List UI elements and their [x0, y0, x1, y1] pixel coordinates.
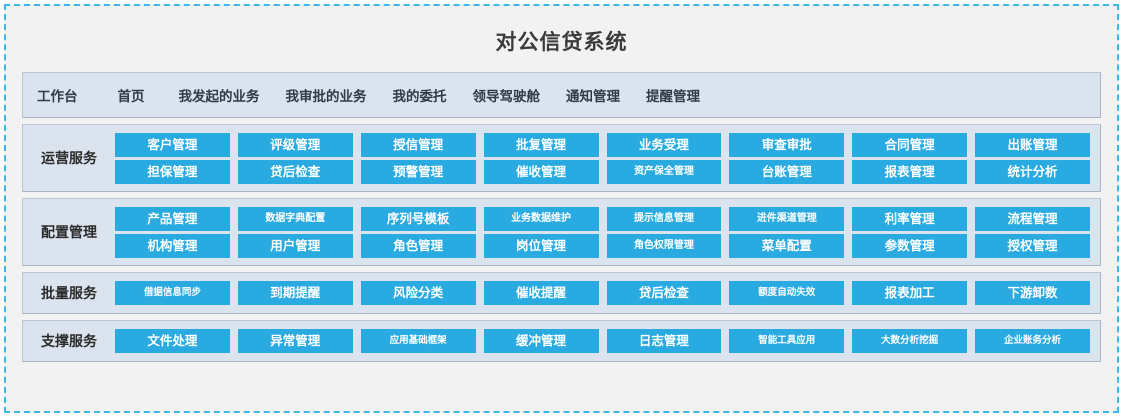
section-label-2: 批量服务 [23, 283, 115, 303]
module-tile[interactable]: 菜单配置 [729, 234, 844, 258]
module-tile[interactable]: 序列号模板 [361, 207, 476, 231]
module-tile[interactable]: 客户管理 [115, 133, 230, 157]
module-tile[interactable]: 利率管理 [852, 207, 967, 231]
module-tile[interactable]: 角色权限管理 [607, 234, 722, 258]
nav-item-5[interactable]: 领导驾驶舱 [473, 85, 541, 105]
section-tile-grid-1: 产品管理数据字典配置序列号模板业务数据维护提示信息管理进件渠道管理利率管理流程管… [115, 207, 1090, 258]
module-tile[interactable]: 借据信息同步 [115, 281, 230, 305]
nav-item-6[interactable]: 通知管理 [566, 85, 620, 105]
title-bar: 对公信贷系统 [10, 10, 1113, 72]
module-tile[interactable]: 业务数据维护 [484, 207, 599, 231]
section-label-0: 运营服务 [23, 148, 115, 168]
module-tile[interactable]: 下游卸数 [975, 281, 1090, 305]
module-tile[interactable]: 批复管理 [484, 133, 599, 157]
page-inner: 对公信贷系统 工作台首页我发起的业务我审批的业务我的委托领导驾驶舱通知管理提醒管… [10, 10, 1113, 407]
section-3: 支撑服务文件处理异常管理应用基础框架缓冲管理日志管理智能工具应用大数分析挖掘企业… [22, 320, 1101, 362]
module-tile[interactable]: 岗位管理 [484, 234, 599, 258]
module-tile[interactable]: 异常管理 [238, 329, 353, 353]
nav-item-3[interactable]: 我审批的业务 [286, 85, 367, 105]
module-tile[interactable]: 授信管理 [361, 133, 476, 157]
module-tile[interactable]: 应用基础框架 [361, 329, 476, 353]
nav-item-7[interactable]: 提醒管理 [646, 85, 700, 105]
module-tile[interactable]: 出账管理 [975, 133, 1090, 157]
section-tile-grid-2: 借据信息同步到期提醒风险分类催收提醒贷后检查额度自动失效报表加工下游卸数 [115, 281, 1090, 305]
module-tile[interactable]: 产品管理 [115, 207, 230, 231]
module-tile[interactable]: 台账管理 [729, 160, 844, 184]
module-tile[interactable]: 预警管理 [361, 160, 476, 184]
page-title: 对公信贷系统 [496, 26, 628, 56]
module-tile[interactable]: 角色管理 [361, 234, 476, 258]
module-tile[interactable]: 企业账务分析 [975, 329, 1090, 353]
module-tile[interactable]: 用户管理 [238, 234, 353, 258]
module-tile[interactable]: 催收提醒 [484, 281, 599, 305]
module-tile[interactable]: 大数分析挖掘 [852, 329, 967, 353]
module-tile[interactable]: 报表管理 [852, 160, 967, 184]
page-frame: 对公信贷系统 工作台首页我发起的业务我审批的业务我的委托领导驾驶舱通知管理提醒管… [4, 4, 1119, 413]
section-label-1: 配置管理 [23, 222, 115, 242]
module-tile[interactable]: 提示信息管理 [607, 207, 722, 231]
module-tile[interactable]: 风险分类 [361, 281, 476, 305]
module-tile[interactable]: 到期提醒 [238, 281, 353, 305]
module-tile[interactable]: 担保管理 [115, 160, 230, 184]
module-tile[interactable]: 统计分析 [975, 160, 1090, 184]
module-tile[interactable]: 缓冲管理 [484, 329, 599, 353]
section-1: 配置管理产品管理数据字典配置序列号模板业务数据维护提示信息管理进件渠道管理利率管… [22, 198, 1101, 266]
module-tile[interactable]: 贷后检查 [238, 160, 353, 184]
module-tile[interactable]: 数据字典配置 [238, 207, 353, 231]
module-sections: 运营服务客户管理评级管理授信管理批复管理业务受理审查审批合同管理出账管理担保管理… [10, 124, 1113, 407]
module-tile[interactable]: 机构管理 [115, 234, 230, 258]
module-tile[interactable]: 催收管理 [484, 160, 599, 184]
main-navigation: 工作台首页我发起的业务我审批的业务我的委托领导驾驶舱通知管理提醒管理 [22, 72, 1101, 118]
section-0: 运营服务客户管理评级管理授信管理批复管理业务受理审查审批合同管理出账管理担保管理… [22, 124, 1101, 192]
nav-item-2[interactable]: 我发起的业务 [179, 85, 260, 105]
module-tile[interactable]: 日志管理 [607, 329, 722, 353]
nav-item-4[interactable]: 我的委托 [393, 85, 447, 105]
module-tile[interactable]: 额度自动失效 [729, 281, 844, 305]
module-tile[interactable]: 合同管理 [852, 133, 967, 157]
module-tile[interactable]: 资产保全管理 [607, 160, 722, 184]
nav-item-1[interactable]: 首页 [118, 85, 145, 105]
module-tile[interactable]: 进件渠道管理 [729, 207, 844, 231]
section-label-3: 支撑服务 [23, 331, 115, 351]
module-tile[interactable]: 参数管理 [852, 234, 967, 258]
module-tile[interactable]: 业务受理 [607, 133, 722, 157]
section-2: 批量服务借据信息同步到期提醒风险分类催收提醒贷后检查额度自动失效报表加工下游卸数 [22, 272, 1101, 314]
module-tile[interactable]: 文件处理 [115, 329, 230, 353]
module-tile[interactable]: 评级管理 [238, 133, 353, 157]
nav-item-0[interactable]: 工作台 [37, 85, 78, 105]
module-tile[interactable]: 流程管理 [975, 207, 1090, 231]
module-tile[interactable]: 报表加工 [852, 281, 967, 305]
module-tile[interactable]: 审查审批 [729, 133, 844, 157]
module-tile[interactable]: 贷后检查 [607, 281, 722, 305]
module-tile[interactable]: 授权管理 [975, 234, 1090, 258]
section-tile-grid-0: 客户管理评级管理授信管理批复管理业务受理审查审批合同管理出账管理担保管理贷后检查… [115, 133, 1090, 184]
section-tile-grid-3: 文件处理异常管理应用基础框架缓冲管理日志管理智能工具应用大数分析挖掘企业账务分析 [115, 329, 1090, 353]
module-tile[interactable]: 智能工具应用 [729, 329, 844, 353]
